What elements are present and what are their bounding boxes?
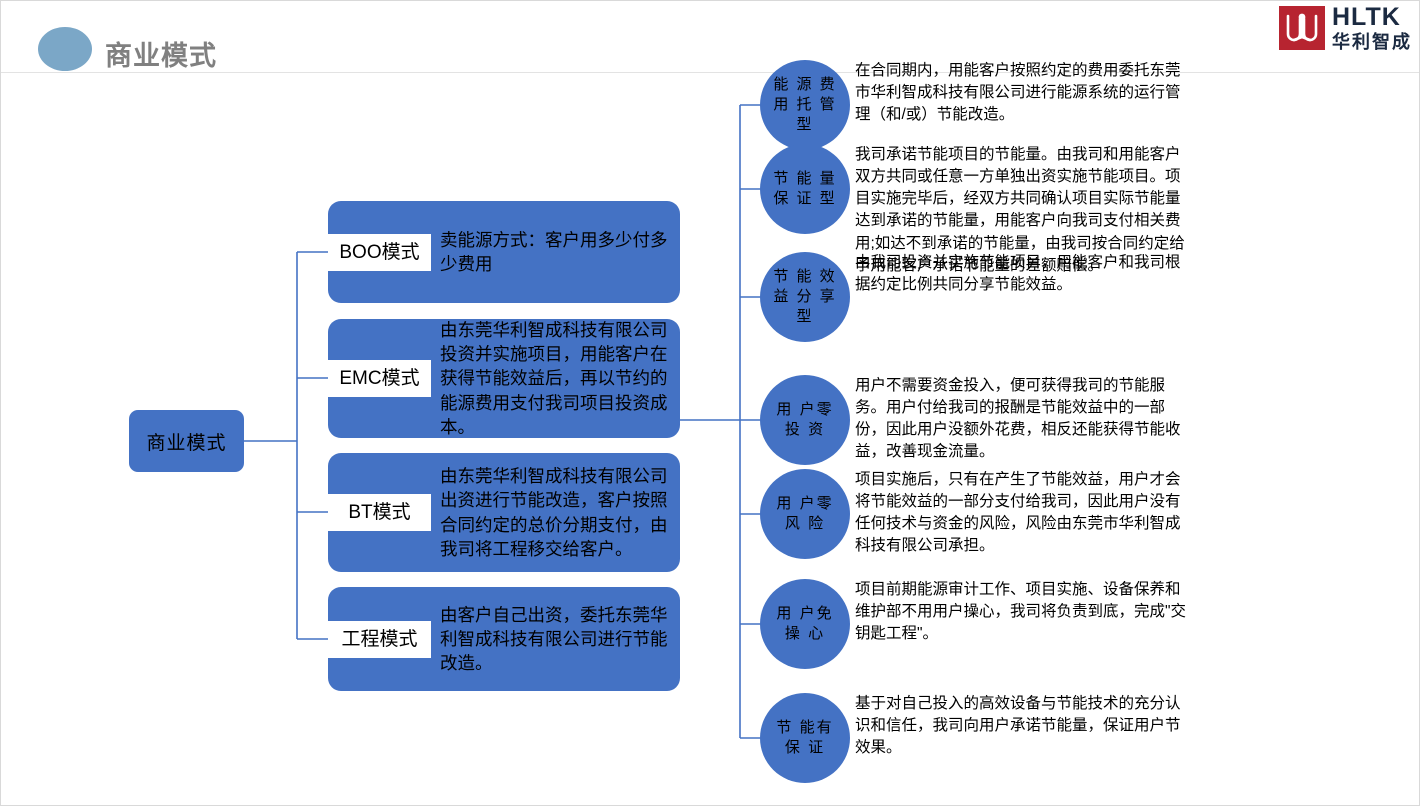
root-node-business-model[interactable]: 商业模式 — [129, 410, 244, 472]
slide-page: 商业模式 HLTK 华利智成 — [0, 0, 1420, 806]
mode-desc-bt: 由东莞华利智成科技有限公司出资进行节能改造，客户按照合同约定的总价分期支付，由我… — [440, 464, 670, 561]
feature-text-savings-assured: 基于对自己投入的高效设备与节能技术的充分认识和信任，我司向用户承诺节能量，保证用… — [855, 693, 1195, 759]
mode-desc-emc: 由东莞华利智成科技有限公司投资并实施项目，用能客户在获得节能效益后，再以节约的能… — [440, 318, 670, 439]
mindmap-canvas: 商业模式 BOO模式 卖能源方式：客户用多少付多少费用 EMC模式 由东莞华利智… — [0, 72, 1420, 806]
slide-header: 商业模式 HLTK 华利智成 — [0, 0, 1420, 72]
logo-wordmark: HLTK 华利智成 — [1332, 5, 1412, 51]
mode-desc-engineering: 由客户自己出资，委托东莞华利智成科技有限公司进行节能改造。 — [440, 603, 670, 675]
mode-label-boo: BOO模式 — [328, 234, 431, 271]
hltk-figure-icon — [1279, 6, 1325, 50]
feature-bubble-savings-guarantee[interactable]: 节 能 量保 证 型 — [760, 144, 850, 234]
mode-label-emc: EMC模式 — [328, 360, 431, 397]
feature-bubble-zero-risk[interactable]: 用 户零 风 险 — [760, 469, 850, 559]
page-title: 商业模式 — [105, 34, 217, 73]
mode-label-engineering: 工程模式 — [328, 621, 431, 658]
feature-bubble-zero-investment[interactable]: 用 户零 投 资 — [760, 375, 850, 465]
root-node-label: 商业模式 — [146, 428, 226, 455]
feature-text-benefit-sharing: 由我司投资并实施节能项目，用能客户和我司根据约定比例共同分享节能效益。 — [855, 252, 1195, 296]
feature-text-energy-hosting: 在合同期内，用能客户按照约定的费用委托东莞市华利智成科技有限公司进行能源系统的运… — [855, 60, 1195, 126]
mode-desc-boo: 卖能源方式：客户用多少付多少费用 — [440, 228, 670, 276]
mode-box-engineering[interactable]: 工程模式 由客户自己出资，委托东莞华利智成科技有限公司进行节能改造。 — [328, 587, 680, 691]
feature-text-worry-free: 项目前期能源审计工作、项目实施、设备保养和维护部不用用户操心，我司将负责到底，完… — [855, 579, 1195, 645]
feature-bubble-savings-assured[interactable]: 节 能有 保 证 — [760, 693, 850, 783]
mode-box-bt[interactable]: BT模式 由东莞华利智成科技有限公司出资进行节能改造，客户按照合同约定的总价分期… — [328, 453, 680, 572]
header-bullet-icon — [38, 27, 92, 71]
company-logo: HLTK 华利智成 — [1279, 4, 1412, 52]
feature-bubble-benefit-sharing[interactable]: 节 能 效益 分 享型 — [760, 252, 850, 342]
logo-text-cn: 华利智成 — [1332, 33, 1412, 51]
feature-bubble-worry-free[interactable]: 用 户免 操 心 — [760, 579, 850, 669]
logo-text-en: HLTK — [1332, 5, 1412, 30]
feature-text-zero-risk: 项目实施后，只有在产生了节能效益，用户才会将节能效益的一部分支付给我司，因此用户… — [855, 469, 1195, 558]
mode-box-boo[interactable]: BOO模式 卖能源方式：客户用多少付多少费用 — [328, 201, 680, 303]
mode-label-bt: BT模式 — [328, 494, 431, 531]
feature-text-zero-investment: 用户不需要资金投入，便可获得我司的节能服务。用户付给我司的报酬是节能效益中的一部… — [855, 375, 1195, 464]
mode-box-emc[interactable]: EMC模式 由东莞华利智成科技有限公司投资并实施项目，用能客户在获得节能效益后，… — [328, 319, 680, 438]
feature-bubble-energy-hosting[interactable]: 能 源 费用 托 管型 — [760, 60, 850, 150]
